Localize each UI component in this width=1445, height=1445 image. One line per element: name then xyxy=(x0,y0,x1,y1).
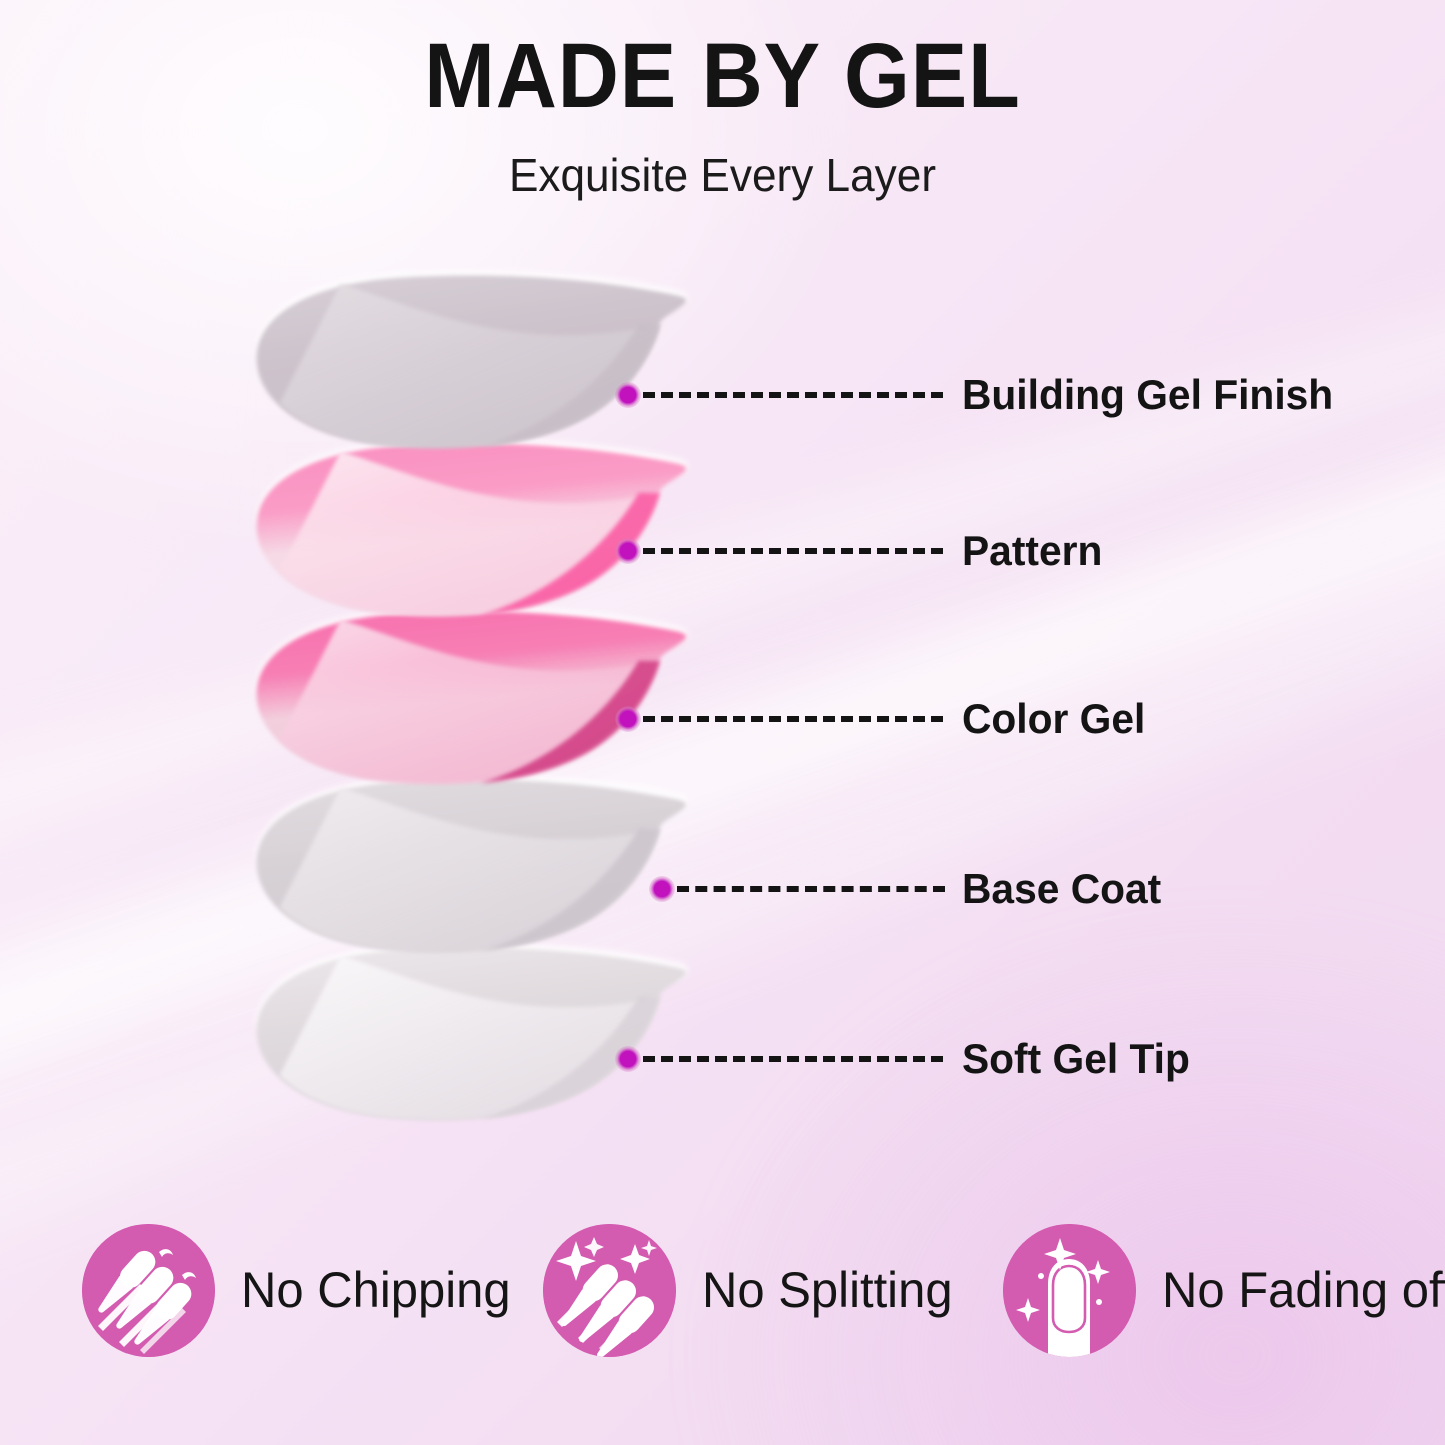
leader-dash-line xyxy=(677,886,945,892)
leader-color-gel xyxy=(615,706,943,732)
leader-dash-line xyxy=(643,548,943,554)
nails-sparkle-icon xyxy=(543,1224,676,1357)
page-subtitle: Exquisite Every Layer xyxy=(29,152,1416,198)
feature-no-fading-off: No Fading off xyxy=(1003,1210,1445,1370)
nail-layer-soft-gel-tip xyxy=(257,943,688,1119)
feature-label-no-splitting: No Splitting xyxy=(702,1261,953,1319)
leader-dot-icon xyxy=(615,382,641,408)
leader-dash-line xyxy=(643,716,943,722)
leader-soft-gel-tip xyxy=(615,1046,943,1072)
nail-layer-base-coat xyxy=(257,775,688,951)
leader-dot-icon xyxy=(615,538,641,564)
feature-no-splitting: No Splitting xyxy=(543,1210,958,1370)
leader-pattern xyxy=(615,538,943,564)
leader-dash-line xyxy=(643,392,943,398)
nail-layer-color-gel xyxy=(257,607,688,783)
layer-label-soft-gel-tip: Soft Gel Tip xyxy=(962,1038,1190,1080)
feature-label-no-chipping: No Chipping xyxy=(241,1261,511,1319)
page-title: MADE BY GEL xyxy=(58,30,1387,122)
layer-label-pattern: Pattern xyxy=(962,530,1102,572)
nail-layer-pattern xyxy=(257,439,688,615)
leader-dot-icon xyxy=(615,706,641,732)
layer-label-color-gel: Color Gel xyxy=(962,698,1145,740)
feature-no-chipping: No Chipping xyxy=(82,1210,516,1370)
leader-building-gel-finish xyxy=(615,382,943,408)
leader-dot-icon xyxy=(615,1046,641,1072)
feature-badge-row: No Chipping xyxy=(0,1210,1445,1375)
feature-label-no-fading-off: No Fading off xyxy=(1162,1261,1445,1319)
nail-layer-building-gel-finish xyxy=(257,271,688,447)
layer-label-base-coat: Base Coat xyxy=(962,868,1161,910)
infographic-canvas: MADE BY GEL Exquisite Every Layer xyxy=(0,0,1445,1445)
leader-dot-icon xyxy=(649,876,675,902)
three-nails-motion-icon xyxy=(82,1224,215,1357)
leader-dash-line xyxy=(643,1056,943,1062)
finger-nail-sparkle-icon xyxy=(1003,1224,1136,1357)
layer-label-building-gel-finish: Building Gel Finish xyxy=(962,374,1333,416)
leader-base-coat xyxy=(649,876,945,902)
